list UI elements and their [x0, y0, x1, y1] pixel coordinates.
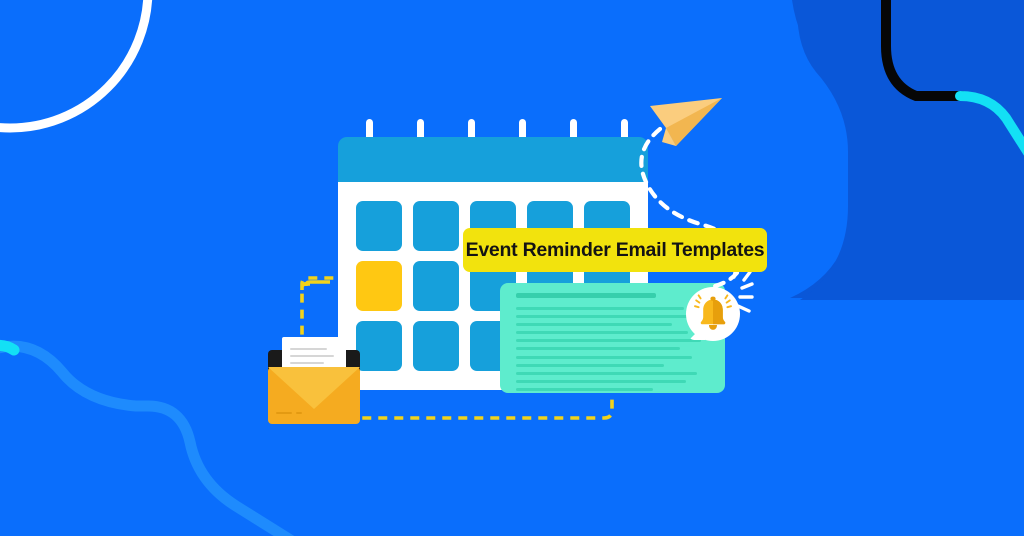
banner-title-text: Event Reminder Email Templates — [466, 239, 765, 262]
title-banner: Event Reminder Email Templates — [463, 228, 767, 272]
sparkle-rays-icon — [734, 268, 752, 311]
illustration-canvas: Event Reminder Email Templates — [0, 0, 1024, 536]
